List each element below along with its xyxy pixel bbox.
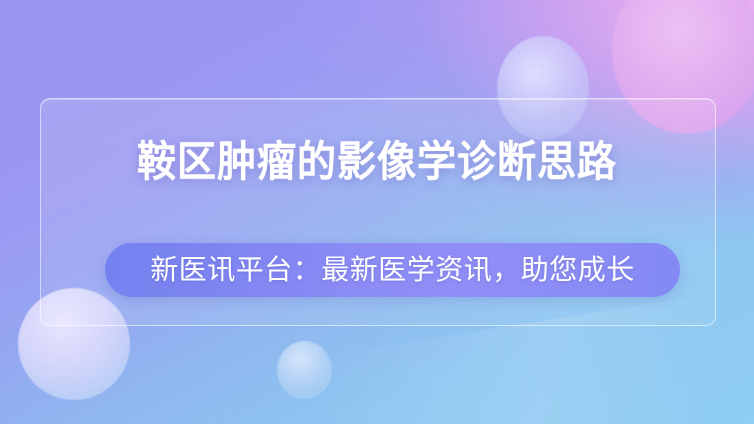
title-slide: 鞍区肿瘤的影像学诊断思路 新医讯平台：最新医学资讯，助您成长 <box>0 0 754 424</box>
subtitle-pill: 新医讯平台：最新医学资讯，助您成长 <box>105 243 680 297</box>
subtitle-text: 新医讯平台：最新医学资讯，助您成长 <box>150 253 635 287</box>
slide-title: 鞍区肿瘤的影像学诊断思路 <box>26 136 727 188</box>
bubble-blue-bottom-mid-icon <box>277 341 332 399</box>
